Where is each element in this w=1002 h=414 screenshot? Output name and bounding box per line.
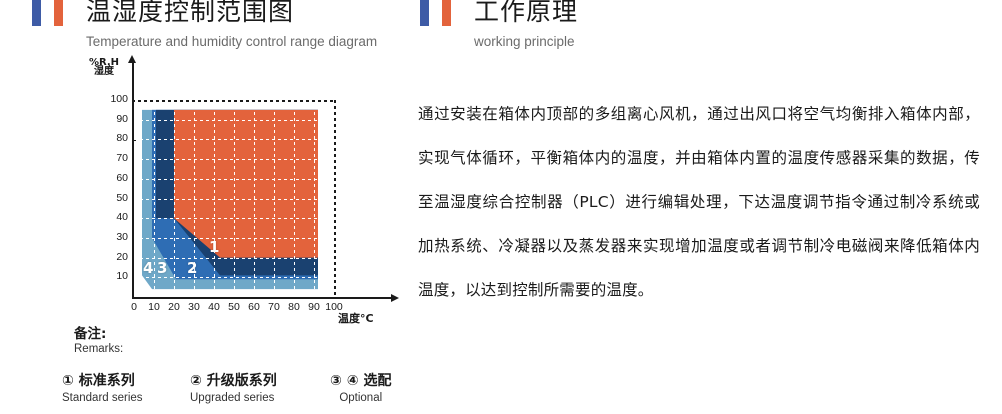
header-bar-orange-icon [54,0,63,26]
x-axis-arrow-icon [391,294,399,302]
legend-label-en-2: Optional [330,392,391,404]
gridline-horizontal [134,218,334,219]
legend-mark-2: ③ ④ [330,373,359,389]
legend-label-cn-2: ③ ④ 选配 [330,370,391,390]
gridline-horizontal [134,277,334,278]
legend-name-cn-0: 标准系列 [79,373,135,389]
header-bars-left [30,0,74,26]
chart-title-cn: 温湿度控制范围图 [86,0,294,28]
region-label-2: 2 [187,259,197,277]
principle-body-text: 通过安装在箱体内顶部的多组离心风机，通过出风口将空气均衡排入箱体内部，实现气体循… [418,92,980,312]
legend-label-cn-0: ① 标准系列 [62,370,143,390]
region-1-shape [174,110,318,258]
page-root: 温湿度控制范围图 Temperature and humidity contro… [0,0,1002,414]
principle-title-cn: 工作原理 [474,0,578,28]
legend-label-cn-1: ② 升级版系列 [190,370,277,390]
header-bar-blue-icon [420,0,429,26]
y-axis-title: %R.H 湿度 [78,58,130,77]
legend-item-standard: ① 标准系列 Standard series [62,370,143,404]
y-tick-label: 30 [94,231,128,243]
header-bar-orange-icon [442,0,451,26]
gridline-horizontal [134,179,334,180]
gridline-horizontal [134,159,334,160]
y-tick-label: 60 [94,172,128,184]
gridline-horizontal [134,139,334,140]
y-axis-title-line2: 湿度 [78,67,130,77]
gridline-horizontal [134,238,334,239]
legend-name-cn-2: 选配 [363,373,391,389]
legend-name-cn-1: 升级版系列 [207,373,277,389]
legend-label-en-1: Upgraded series [190,392,277,404]
boundary-top-dotted-line [132,100,334,102]
remarks-block: 备注: Remarks: ① 标准系列 Standard series ② 升级… [62,322,422,355]
principle-title-en: working principle [474,34,575,49]
y-tick-label: 80 [94,132,128,144]
legend-item-upgraded: ② 升级版系列 Upgraded series [190,370,277,404]
legend-item-optional: ③ ④ 选配 Optional [330,370,391,404]
boundary-right-dotted-line [334,100,336,297]
legend-mark-0: ① [62,373,74,389]
legend-mark-1: ② [190,373,202,389]
region-label-1: 1 [209,238,219,256]
humidity-temperature-chart: %R.H 湿度 102030405060708090100 0102030405… [60,58,390,313]
y-tick-label: 100 [94,93,128,105]
remarks-title-cn: 备注: [74,322,422,342]
chart-title-en: Temperature and humidity control range d… [86,34,377,49]
y-tick-label: 90 [94,113,128,125]
gridline-horizontal [134,120,334,121]
gridline-horizontal [134,199,334,200]
y-tick-label: 10 [94,270,128,282]
y-tick-label: 70 [94,152,128,164]
y-axis-arrow-icon [128,55,136,63]
header-bars-right [418,0,462,26]
y-tick-label: 40 [94,211,128,223]
header-bar-blue-icon [32,0,41,26]
y-tick-label: 50 [94,192,128,204]
region-label-3: 3 [157,259,167,277]
legend-label-en-0: Standard series [62,392,143,404]
region-label-4: 4 [143,259,153,277]
y-tick-label: 20 [94,251,128,263]
remarks-title-en: Remarks: [74,343,422,355]
x-axis-line [132,297,394,299]
